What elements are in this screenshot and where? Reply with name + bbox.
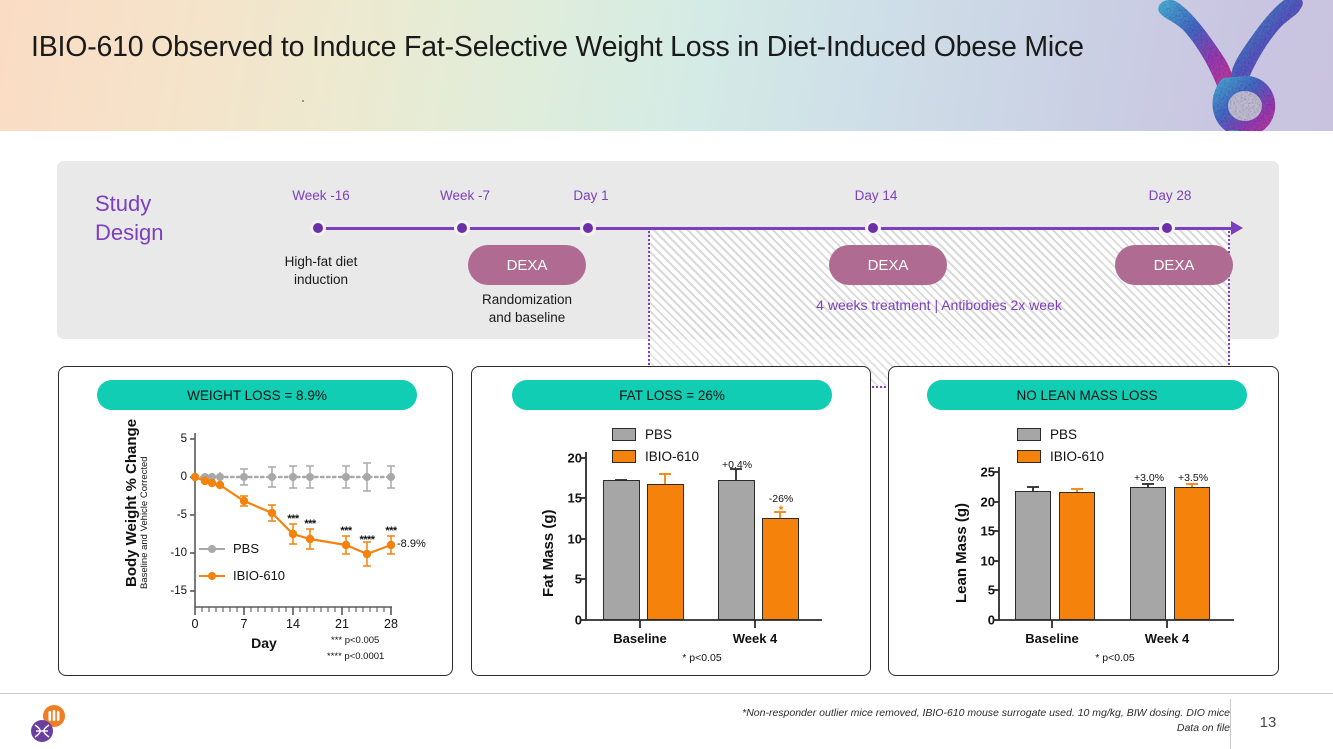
study-design-label: Study Design <box>95 189 163 248</box>
antibody-structure-icon <box>1141 0 1321 131</box>
delta-label-week4-pbs: +0.4% <box>722 459 752 471</box>
timeline-node-day-14[interactable] <box>865 220 881 236</box>
x-tick-7: 7 <box>241 617 248 631</box>
legend-marker-ibio610 <box>199 575 225 577</box>
timeline-arrow-icon <box>1231 221 1243 235</box>
bar-baseline-ibio610[interactable] <box>647 484 684 620</box>
page-number: 13 <box>1248 714 1288 731</box>
study-label-line2: Design <box>95 218 163 247</box>
bar-baseline-ibio610[interactable] <box>1059 492 1095 620</box>
timeline-label-day-28: Day 28 <box>1149 188 1192 203</box>
bar-baseline-pbs[interactable] <box>1015 491 1051 620</box>
timeline-node-day-28[interactable] <box>1159 220 1175 236</box>
pvalue-note-1: *** p<0.005 <box>331 635 379 646</box>
x-axis-title: Day <box>251 635 277 651</box>
timeline-caption-week-16: High-fat diet induction <box>285 253 358 289</box>
bar-week4-pbs[interactable] <box>1130 487 1166 620</box>
slide: IBIO-610 Observed to Induce Fat-Selectiv… <box>0 0 1333 749</box>
dexa-pill-week-7[interactable]: DEXA <box>468 245 586 285</box>
x-tick-28: 28 <box>384 617 398 631</box>
endpoint-value-label: -8.9% <box>397 538 426 550</box>
pvalue-note-2: **** p<0.0001 <box>327 651 384 662</box>
dexa-pill-day-28[interactable]: DEXA <box>1115 245 1233 285</box>
x-tick-14: 14 <box>286 617 300 631</box>
significance-marker-d28: *** <box>385 525 396 537</box>
bar-week4-pbs[interactable] <box>718 480 755 620</box>
line-chart-body: Body Weight % Change Baseline and Vehicl… <box>59 417 454 675</box>
bar-week4-ibio610[interactable] <box>762 518 799 620</box>
significance-marker-d14: *** <box>287 513 298 525</box>
caption-line1: High-fat diet <box>285 253 358 271</box>
caption-line2: and baseline <box>482 309 572 327</box>
timeline-caption-day-1: Randomization and baseline <box>482 291 572 327</box>
significance-star-week4: * <box>779 503 784 517</box>
study-design-panel: Study Design Week -16 High-fat diet indu… <box>57 161 1279 339</box>
delta-label-week4-pbs: +3.0% <box>1134 472 1164 484</box>
timeline-node-week-7[interactable] <box>454 220 470 236</box>
timeline-label-day-1: Day 1 <box>573 188 608 203</box>
significance-marker-d21: *** <box>340 525 351 537</box>
timeline-label-week-16: Week -16 <box>292 188 350 203</box>
x-tick-0: 0 <box>192 617 199 631</box>
decorative-dot <box>302 100 304 102</box>
pvalue-note-lean: * p<0.05 <box>1095 652 1134 664</box>
x-label-week4: Week 4 <box>733 631 778 646</box>
x-label-week4: Week 4 <box>1145 631 1190 646</box>
x-label-baseline: Baseline <box>1025 631 1078 646</box>
footer-vertical-divider <box>1230 699 1231 749</box>
footer-divider-line <box>0 693 1333 694</box>
legend-label-ibio610: IBIO-610 <box>233 568 285 583</box>
timeline-node-day-1[interactable] <box>580 220 596 236</box>
timeline-node-week-16[interactable] <box>310 220 326 236</box>
x-tick-21: 21 <box>335 617 349 631</box>
x-label-baseline: Baseline <box>613 631 666 646</box>
treatment-description: 4 weeks treatment | Antibodies 2x week <box>816 297 1062 313</box>
delta-label-week4-ibio610: +3.5% <box>1178 472 1208 484</box>
footer-note-line2: Data on file <box>590 721 1230 736</box>
footer-disclaimer: *Non-responder outlier mice removed, IBI… <box>590 706 1230 736</box>
significance-marker-d16: *** <box>304 518 315 530</box>
chart-card-weight-loss: WEIGHT LOSS = 8.9% Body Weight % Change … <box>58 366 453 676</box>
footer-note-line1: *Non-responder outlier mice removed, IBI… <box>590 706 1230 721</box>
timeline-label-week-7: Week -7 <box>440 188 490 203</box>
pvalue-note-fat: * p<0.05 <box>682 652 721 664</box>
study-label-line1: Study <box>95 189 163 218</box>
slide-header: IBIO-610 Observed to Induce Fat-Selectiv… <box>0 0 1333 131</box>
legend-item-ibio610[interactable]: IBIO-610 <box>199 568 285 583</box>
caption-line2: induction <box>285 271 358 289</box>
bar-baseline-pbs[interactable] <box>603 480 640 620</box>
legend-label-pbs: PBS <box>233 541 259 556</box>
caption-line1: Randomization <box>482 291 572 309</box>
dexa-pill-day-14[interactable]: DEXA <box>829 245 947 285</box>
company-logo-icon <box>28 703 70 745</box>
chart-card-fat-loss: FAT LOSS = 26% PBS IBIO-610 20 15 10 5 0… <box>471 366 871 676</box>
banner-weight-loss: WEIGHT LOSS = 8.9% <box>97 380 417 410</box>
legend-marker-pbs <box>199 548 225 550</box>
timeline-label-day-14: Day 14 <box>855 188 898 203</box>
chart-card-lean-mass: NO LEAN MASS LOSS PBS IBIO-610 25 20 15 … <box>888 366 1279 676</box>
significance-marker-d24: **** <box>359 534 374 546</box>
page-title: IBIO-610 Observed to Induce Fat-Selectiv… <box>31 27 1121 67</box>
bar-week4-ibio610[interactable] <box>1174 487 1210 620</box>
legend-item-pbs[interactable]: PBS <box>199 541 259 556</box>
